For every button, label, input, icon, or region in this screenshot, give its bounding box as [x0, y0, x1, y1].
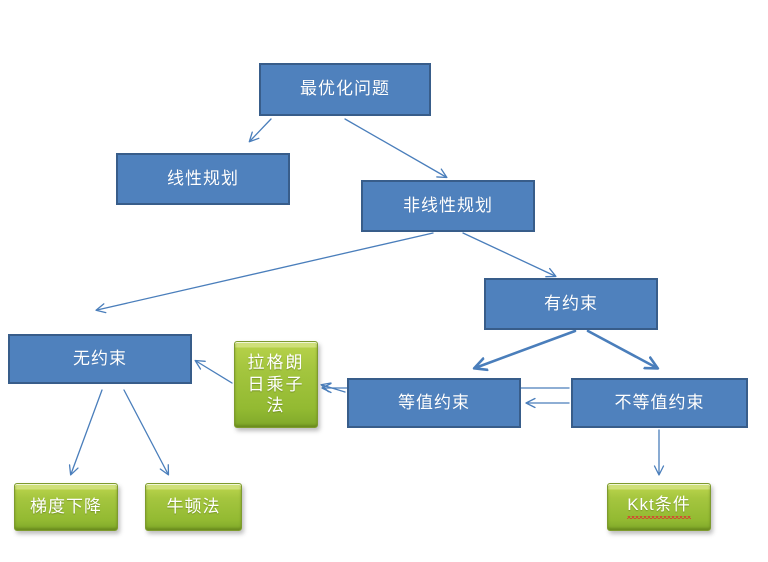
edge-constrained-to-inequality: [588, 331, 657, 368]
edge-equality-to-lagrange: [322, 385, 345, 392]
node-equality-constraint[interactable]: 等值约束: [347, 378, 521, 428]
node-inequality-constraint[interactable]: 不等值约束: [571, 378, 748, 428]
kkt-conditions-label: Kkt条件: [627, 495, 691, 518]
edge-unconstrained-to-newton: [124, 390, 168, 474]
node-gradient-descent[interactable]: 梯度下降: [14, 483, 118, 531]
node-unconstrained[interactable]: 无约束: [8, 334, 192, 384]
node-kkt-conditions[interactable]: Kkt条件: [607, 483, 711, 531]
node-nonlinear-programming[interactable]: 非线性规划: [361, 180, 535, 232]
edge-nonlinear-to-constrained: [463, 233, 555, 276]
node-newton-method[interactable]: 牛顿法: [145, 483, 242, 531]
diagram-canvas: 最优化问题 线性规划 非线性规划 有约束 无约束 拉格朗 日乘子 法 等值约束 …: [0, 0, 768, 562]
edge-lagrange-to-unconstrained: [196, 361, 232, 383]
edge-constrained-to-equality: [475, 331, 575, 368]
node-constrained[interactable]: 有约束: [484, 278, 658, 330]
node-lagrange-multiplier[interactable]: 拉格朗 日乘子 法: [234, 341, 318, 428]
edge-optimization-to-nonlinear: [345, 119, 446, 177]
edge-unconstrained-to-gradient: [71, 390, 102, 474]
edge-optimization-to-linear: [250, 119, 271, 141]
node-optimization-problem[interactable]: 最优化问题: [259, 63, 431, 116]
node-linear-programming[interactable]: 线性规划: [116, 153, 290, 205]
edge-nonlinear-to-unconstrained: [97, 233, 433, 310]
